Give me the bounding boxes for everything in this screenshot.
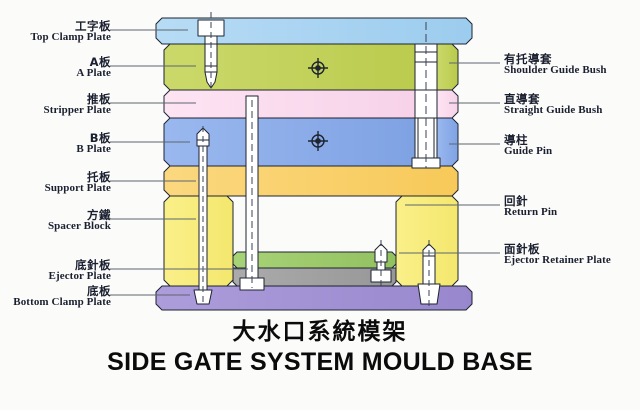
part-stripper-plate: [164, 90, 415, 118]
label-ejector-retainer-plate-en: Ejector Retainer Plate: [504, 255, 611, 267]
label-shoulder-guide-bush-en: Shoulder Guide Bush: [504, 65, 607, 77]
part-a-plate-right-wing: [437, 44, 458, 90]
label-bottom-clamp-plate: 底板 Bottom Clamp Plate: [13, 285, 111, 309]
mould-base-diagram-page: 工字板 Top Clamp Plate A板 A Plate 推板 Stripp…: [0, 0, 640, 410]
label-guide-pin-en: Guide Pin: [504, 146, 552, 158]
label-straight-guide-bush: 直導套 Straight Guide Bush: [504, 93, 602, 117]
label-spacer-block: 方鐵 Spacer Block: [48, 209, 111, 233]
label-shoulder-guide-bush: 有托導套 Shoulder Guide Bush: [504, 53, 607, 77]
label-guide-pin: 導柱 Guide Pin: [504, 134, 552, 158]
label-support-plate: 托板 Support Plate: [45, 171, 111, 195]
label-stripper-plate: 推板 Stripper Plate: [44, 93, 112, 117]
part-stripper-plate-right-wing: [437, 90, 458, 118]
label-support-plate-en: Support Plate: [45, 183, 111, 195]
label-b-plate-en: B Plate: [76, 144, 111, 156]
diagram-title: 大水口系統模架 SIDE GATE SYSTEM MOULD BASE: [0, 312, 640, 377]
label-bottom-clamp-plate-en: Bottom Clamp Plate: [13, 297, 111, 309]
part-support-plate: [164, 166, 458, 196]
label-spacer-block-en: Spacer Block: [48, 221, 111, 233]
label-a-plate: A板 A Plate: [76, 56, 111, 80]
label-ejector-plate: 底針板 Ejector Plate: [49, 259, 111, 283]
diagram-title-en: SIDE GATE SYSTEM MOULD BASE: [0, 348, 640, 377]
label-top-clamp-plate: 工字板 Top Clamp Plate: [30, 20, 111, 44]
label-ejector-plate-en: Ejector Plate: [49, 271, 111, 283]
label-b-plate: B板 B Plate: [76, 132, 111, 156]
label-top-clamp-plate-en: Top Clamp Plate: [30, 32, 111, 44]
label-a-plate-en: A Plate: [76, 68, 111, 80]
label-ejector-retainer-plate: 面針板 Ejector Retainer Plate: [504, 243, 611, 267]
label-return-pin-en: Return Pin: [504, 207, 557, 219]
label-return-pin: 回針 Return Pin: [504, 195, 557, 219]
diagram-title-cn: 大水口系統模架: [0, 312, 640, 346]
label-stripper-plate-en: Stripper Plate: [44, 105, 112, 117]
label-straight-guide-bush-en: Straight Guide Bush: [504, 105, 602, 117]
